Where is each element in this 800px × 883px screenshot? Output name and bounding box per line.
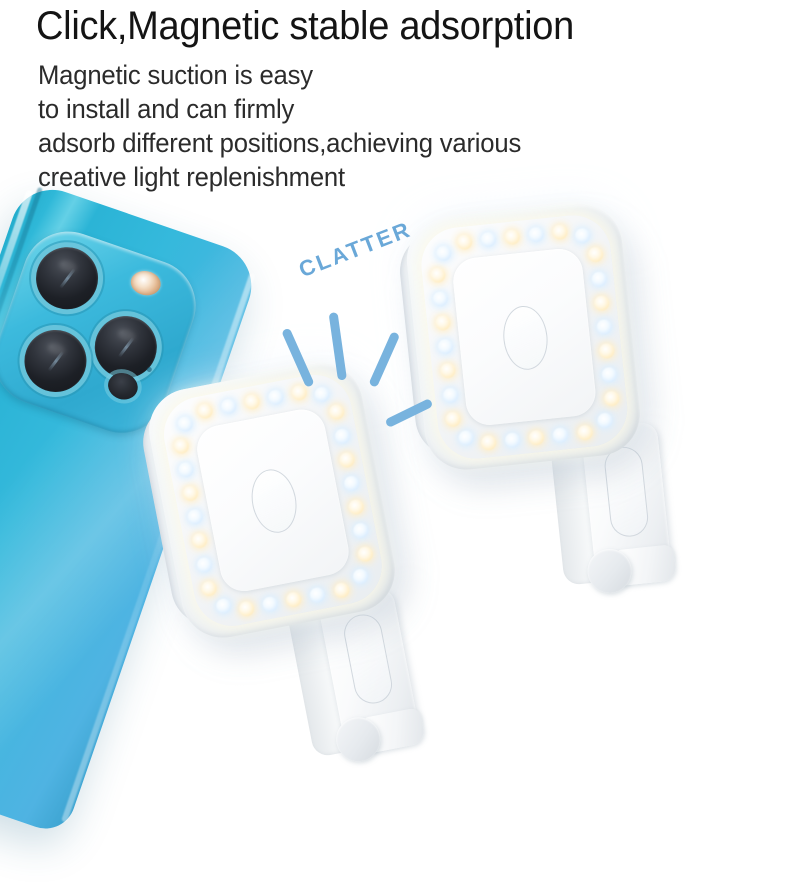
camera-flash-icon: [129, 268, 163, 297]
led-bulb-icon: [356, 545, 374, 563]
led-bulb-icon: [352, 568, 370, 586]
led-bulb-icon: [266, 388, 284, 406]
led-bulb-icon: [200, 579, 218, 597]
led-bulb-icon: [238, 599, 256, 617]
led-bulb-icon: [456, 234, 472, 250]
led-bulb-icon: [600, 366, 616, 382]
clatter-effect: CLATTER: [290, 250, 440, 430]
led-bulb-icon: [598, 342, 614, 358]
led-bulb-icon: [551, 223, 567, 239]
ring-light-detached[interactable]: [403, 199, 671, 601]
led-bulb-icon: [177, 462, 195, 480]
led-bulb-icon: [176, 415, 194, 433]
led-bulb-icon: [529, 429, 545, 445]
camera-lens-icon: [16, 322, 95, 401]
power-button[interactable]: [500, 304, 550, 372]
page-title: Click,Magnetic stable adsorption: [36, 2, 739, 50]
led-bulb-icon: [458, 430, 474, 446]
led-bulb-icon: [219, 397, 237, 415]
led-bulb-icon: [527, 226, 543, 242]
led-bulb-icon: [338, 451, 356, 469]
description-line-2: to install and can firmly: [38, 92, 732, 126]
led-bulb-icon: [597, 413, 613, 429]
burst-ray-icon: [368, 331, 400, 388]
led-bulb-icon: [332, 581, 350, 599]
led-bulb-icon: [480, 231, 496, 247]
led-bulb-icon: [593, 295, 609, 311]
led-bulb-icon: [243, 393, 261, 411]
led-bulb-icon: [191, 532, 209, 550]
led-bulb-icon: [342, 474, 360, 492]
led-bulb-icon: [444, 411, 460, 427]
description-text: Magnetic suction is easy to install and …: [38, 58, 732, 194]
led-bulb-icon: [172, 438, 190, 456]
description-line-1: Magnetic suction is easy: [38, 58, 732, 92]
led-bulb-icon: [603, 390, 619, 406]
led-bulb-icon: [262, 595, 280, 613]
led-bulb-icon: [215, 597, 233, 615]
led-bulb-icon: [196, 402, 214, 420]
microphone-dot-icon: [146, 366, 152, 372]
led-bulb-icon: [351, 521, 369, 539]
burst-ray-icon: [385, 398, 434, 428]
power-button[interactable]: [246, 466, 301, 537]
led-bulb-icon: [588, 247, 604, 263]
led-bulb-icon: [590, 271, 606, 287]
led-bulb-icon: [576, 424, 592, 440]
burst-ray-icon: [329, 312, 347, 381]
led-bulb-icon: [347, 498, 365, 516]
led-bulb-icon: [195, 556, 213, 574]
product-scene: CLATTER: [0, 200, 800, 800]
description-line-4: creative light replenishment: [38, 160, 732, 194]
led-bulb-icon: [504, 228, 520, 244]
led-bulb-icon: [552, 426, 568, 442]
led-bulb-icon: [574, 228, 590, 244]
led-bulb-icon: [285, 590, 303, 608]
led-bulb-icon: [442, 387, 458, 403]
led-bulb-icon: [595, 318, 611, 334]
led-bulb-icon: [186, 509, 204, 527]
description-line-3: adsorb different positions,achieving var…: [38, 126, 732, 160]
led-bulb-icon: [439, 363, 455, 379]
camera-lens-icon: [28, 239, 107, 318]
diffuser-panel: [451, 247, 598, 428]
clatter-label: CLATTER: [295, 216, 415, 283]
led-bulb-icon: [181, 485, 199, 503]
led-bulb-icon: [481, 434, 497, 450]
led-bulb-icon: [505, 431, 521, 447]
led-bulb-icon: [309, 586, 327, 604]
